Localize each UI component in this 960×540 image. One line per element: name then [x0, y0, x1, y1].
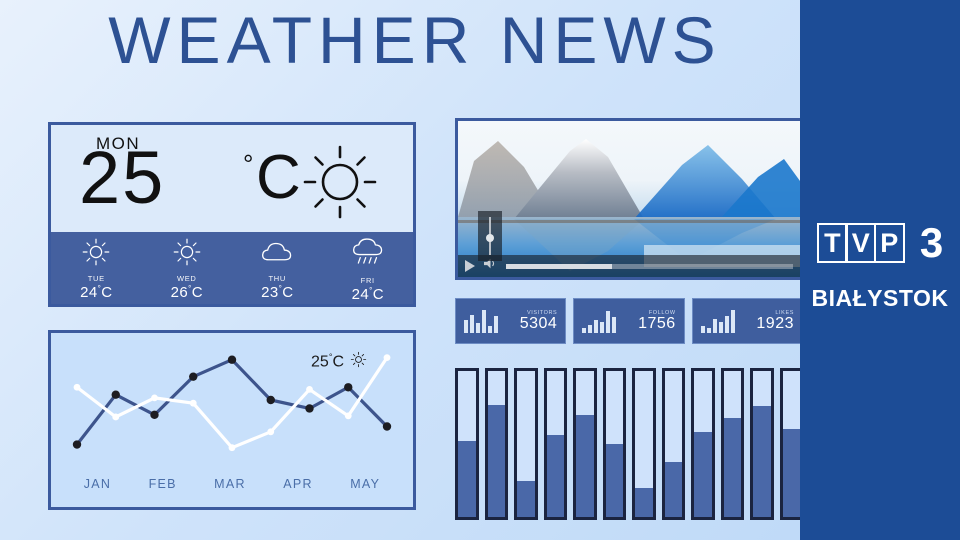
- current-weather-main: MON 25 ° C: [51, 125, 413, 235]
- gauge-bar: [603, 368, 627, 520]
- forecast-day-fri[interactable]: FRI 24°C: [323, 232, 414, 304]
- page-title: WEATHER NEWS: [0, 2, 830, 78]
- gauge-bar-fill: [635, 488, 653, 517]
- stat-value: 1756: [638, 316, 676, 333]
- video-controls[interactable]: [458, 255, 800, 277]
- forecast-row: TUE 24°C WED 26°C: [51, 232, 413, 304]
- channel-number: 3: [920, 222, 943, 264]
- x-tick-label: FEB: [149, 477, 177, 491]
- video-scene-image: [458, 121, 800, 277]
- gauge-bar-fill: [576, 415, 594, 517]
- gauge-bar: [691, 368, 715, 520]
- gauge-bar-fill: [606, 444, 624, 517]
- gauge-bar-fill: [753, 406, 771, 517]
- x-tick-label: JAN: [84, 477, 112, 491]
- sun-icon: [81, 237, 111, 272]
- current-temperature: 25: [79, 141, 165, 215]
- forecast-temp: 24°C: [352, 286, 384, 303]
- video-progress-bar[interactable]: [506, 264, 793, 269]
- gauge-bar: [455, 368, 479, 520]
- rain-cloud-icon: [351, 237, 385, 274]
- stat-card-likes[interactable]: LIKES 1923: [692, 298, 803, 344]
- gauge-bar: [662, 368, 686, 520]
- forecast-day-label: THU: [268, 274, 286, 283]
- forecast-day-label: WED: [177, 274, 197, 283]
- forecast-temp: 26°C: [171, 284, 203, 301]
- tvp-letter-v: V: [845, 223, 876, 263]
- gauge-bar-fill: [458, 441, 476, 517]
- gauge-bar-fill: [488, 405, 506, 517]
- gauge-bar-fill: [547, 435, 565, 517]
- volume-track[interactable]: [489, 217, 491, 255]
- cloud-icon: [260, 237, 294, 272]
- gauge-bar-group: [455, 368, 803, 520]
- x-tick-label: APR: [283, 477, 313, 491]
- brand-city-label: BIAŁYSTOK: [800, 285, 960, 312]
- tvp-logo: T V P 3: [800, 222, 960, 264]
- gauge-bar-fill: [665, 462, 683, 517]
- tvp-letter-p: P: [874, 223, 905, 263]
- current-weather-card: MON 25 ° C: [48, 122, 416, 307]
- play-icon[interactable]: [465, 260, 475, 272]
- x-tick-label: MAR: [214, 477, 246, 491]
- sun-icon: [301, 143, 379, 226]
- sun-icon: [350, 351, 367, 373]
- gauge-bar: [721, 368, 745, 520]
- forecast-day-thu[interactable]: THU 23°C: [232, 232, 323, 304]
- stat-value: 5304: [520, 316, 558, 333]
- gauge-bar: [544, 368, 568, 520]
- volume-slider[interactable]: [478, 211, 502, 261]
- gauge-bar-fill: [724, 418, 742, 517]
- mini-bar-chart-icon: [701, 309, 735, 333]
- sun-icon: [172, 237, 202, 272]
- forecast-day-wed[interactable]: WED 26°C: [142, 232, 233, 304]
- video-player[interactable]: [455, 118, 803, 280]
- forecast-day-label: FRI: [361, 276, 375, 285]
- chart-annotation-temp: 25°C: [311, 352, 344, 371]
- gauge-bar: [632, 368, 656, 520]
- mini-bar-chart-icon: [464, 309, 498, 333]
- video-progress-fill: [506, 264, 612, 269]
- gauge-bar: [485, 368, 509, 520]
- tvp-letter-t: T: [817, 223, 848, 263]
- gauge-bar-fill: [517, 481, 535, 518]
- degree-symbol: °: [243, 149, 253, 180]
- gauge-bar-fill: [694, 432, 712, 517]
- stat-value: 1923: [756, 316, 794, 333]
- volume-knob[interactable]: [486, 234, 494, 242]
- gauge-bar-fill: [783, 429, 801, 517]
- gauge-bar: [573, 368, 597, 520]
- forecast-day-tue[interactable]: TUE 24°C: [51, 232, 142, 304]
- gauge-bar: [514, 368, 538, 520]
- stat-card-follow[interactable]: FOLLOW 1756: [573, 298, 684, 344]
- x-tick-label: MAY: [350, 477, 380, 491]
- forecast-temp: 23°C: [261, 284, 293, 301]
- volume-control[interactable]: [483, 257, 498, 275]
- gauge-bar: [750, 368, 774, 520]
- temperature-unit: C: [256, 147, 301, 209]
- stats-row: VISITORS 5304 FOLLOW 1756 LIKES 1923: [455, 298, 803, 344]
- stat-card-visitors[interactable]: VISITORS 5304: [455, 298, 566, 344]
- brand-panel: T V P 3 BIAŁYSTOK: [800, 0, 960, 540]
- forecast-temp: 24°C: [80, 284, 112, 301]
- chart-annotation: 25°C: [311, 351, 367, 373]
- mini-bar-chart-icon: [582, 309, 616, 333]
- temperature-line-chart-card: 25°C JAN FEB MAR APR MAY: [48, 330, 416, 510]
- chart-x-axis: JAN FEB MAR APR MAY: [51, 477, 413, 491]
- forecast-day-label: TUE: [88, 274, 105, 283]
